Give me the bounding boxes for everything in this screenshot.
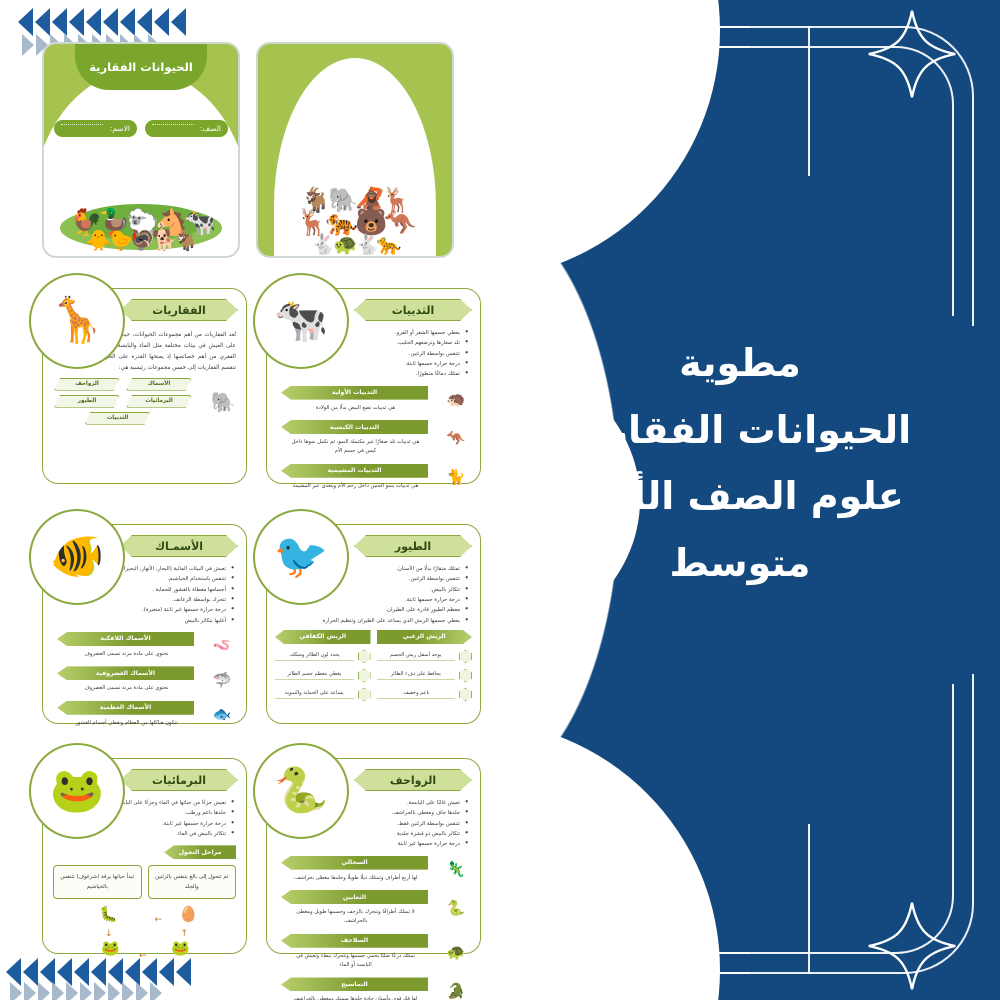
subtype-desc: لها أربع أطراف وتمتلك ذيلًا طويلًا وجلده… <box>275 872 436 886</box>
chip-birds[interactable]: الطيور <box>54 395 120 408</box>
feather-types: الريش الزغبي يوجد أسفل ريش الجسم يحافظ ع… <box>267 628 480 707</box>
hexagon-icon <box>459 669 472 682</box>
adult-frog-icon: 🐸 <box>171 939 190 957</box>
arrow-decoration-bottom-light <box>10 982 162 1000</box>
chip-fish[interactable]: الأسماك <box>126 378 192 391</box>
poster-title: مطوية الحيوانات الفقارية علوم الصف الأول… <box>540 330 940 596</box>
hexagon-icon <box>358 650 371 663</box>
subtype-desc: تتكون هياكلها من العظام وتغطي أجسام القش… <box>51 717 202 731</box>
card-heading-amphibians: البرمائيات <box>120 769 238 791</box>
feather-type-contour: الريش الكفافي يحدد لون الطائر وشكله. يغط… <box>275 630 371 701</box>
star-icon-bottom <box>866 900 958 992</box>
metamorphosis-stage-adult: ثم تتحول إلى بالغ يتنفس بالرئتين والجلد <box>148 865 237 899</box>
card-reptiles[interactable]: 🐍 الزواحف تعيش غالبًا على اليابسة. جلدها… <box>266 758 481 954</box>
chip-mammals[interactable]: الثدييات <box>85 412 151 425</box>
cover-fields: الصف: الاسم: <box>54 120 228 137</box>
card-heading-fish: الأسمـاك <box>120 535 238 557</box>
title-line-3: علوم الصف الأول <box>540 463 940 530</box>
subtype-desc: تحتوي على مادة مرنة تسمى الغضروف <box>51 648 202 662</box>
title-line-1: مطوية <box>540 330 940 397</box>
card-amphibians[interactable]: 🐸 البرمائيات تعيش جزءًا من حياتها في الم… <box>42 758 247 954</box>
list-item: يغطي جسمها الريش الذي يساعد على الطيران … <box>275 616 468 626</box>
subtype-title: الثدييات الكيسية <box>281 420 428 434</box>
metamorphosis-title: مراحل التحول <box>164 845 236 859</box>
shark-photo-icon: 🦈 <box>206 671 238 689</box>
list-item: درجة حرارة جسمها غير ثابتة <box>275 839 468 849</box>
wild-animals-illustration: 🦌🦧🐘🐐 🦘🐻🐅🦌 🐆🐇🐢🐇 <box>258 116 452 256</box>
subtype-title: الثدييات الأولية <box>281 386 428 400</box>
subtype-desc: لا تمتلك أطرافًا وتتحرك بالزحف وجسمها طو… <box>275 906 436 930</box>
feather-point: يساعد على الحماية والتمويه <box>275 688 371 701</box>
subtype-desc: تحتوي على مادة مرنة تسمى الغضروف <box>51 682 202 696</box>
subtype-title: الأسماك الغضروفية <box>57 666 194 680</box>
hexagon-icon <box>358 669 371 682</box>
feather-type-down: الريش الزغبي يوجد أسفل ريش الجسم يحافظ ع… <box>377 630 473 701</box>
class-field-label: الصف: <box>200 124 221 133</box>
cycle-arrow-left: ← <box>154 915 162 925</box>
cover-card-back[interactable]: 🦌🦧🐘🐐 🦘🐻🐅🦌 🐆🐇🐢🐇 <box>256 42 454 258</box>
feather-point: يحافظ على دفء الطائر <box>377 669 473 682</box>
blue-bird-photo-icon: 🐦 <box>253 509 349 605</box>
metamorphosis-stages: ثم تتحول إلى بالغ يتنفس بالرئتين والجلد … <box>43 861 246 901</box>
feather-title: الريش الزغبي <box>377 630 473 644</box>
frog-eggs-icon: 🥚 <box>179 905 198 923</box>
card-vertebrates[interactable]: 🦒 الفقاريات تُعد الفقاريات من أهم مجموعا… <box>42 288 247 484</box>
decor-dot <box>548 748 551 751</box>
arrow-decoration-top <box>18 8 186 36</box>
chip-amphibians[interactable]: البرمائيات <box>126 395 192 408</box>
subtype-title: الأسماك اللافكية <box>57 632 194 646</box>
crocodile-photo-icon: 🐊 <box>440 982 472 1000</box>
subtype-title: التماسيح <box>281 977 428 991</box>
name-field[interactable]: الاسم: <box>54 120 137 137</box>
cycle-arrow-down: ↓ <box>105 929 113 939</box>
hexagon-icon <box>358 688 371 701</box>
subtype-title: الأسماك العظمية <box>57 701 194 715</box>
subtype-desc: تمتلك درعًا صلبًا يحمي جسمها وتتحرك ببطء… <box>275 950 436 974</box>
frog-life-cycle-diagram: 🥚 ← 🐛 ↓ 🐸 ← 🐸 ↑ <box>43 903 246 971</box>
feather-title: الريش الكفافي <box>275 630 371 644</box>
kangaroo-photo-icon: 🦘 <box>440 429 472 447</box>
feather-point: يوجد أسفل ريش الجسم <box>377 650 473 663</box>
fish-subtype-cartilaginous: 🦈 الأسماك الغضروفية تحتوي على مادة مرنة … <box>43 662 246 696</box>
frame-line-vertical-top <box>808 26 810 176</box>
frame-line-vertical-bottom <box>808 824 810 974</box>
frame-line-bottom-a <box>590 972 750 974</box>
list-item: أغلبها يتكاثر بالبيض <box>51 616 234 626</box>
animals-group-photo-icon: 🐘 <box>200 376 246 429</box>
list-item: تمتلك دماغًا متطورًا. <box>275 369 468 379</box>
cover-card-front[interactable]: الحيوانات الفقارية الصف: الاسم: 🐄🐴🐑🦆🐓 🐐🐕… <box>42 42 240 258</box>
subtype-title: الثعابين <box>281 890 428 904</box>
name-field-label: الاسم: <box>110 124 130 133</box>
reptile-subtype-snakes: 🐍 الثعابين لا تمتلك أطرافًا وتتحرك بالزح… <box>267 886 480 930</box>
cycle-arrow-up: ↑ <box>180 929 188 939</box>
hexagon-icon <box>459 688 472 701</box>
reptile-subtype-turtles: 🐢 السلاحف تمتلك درعًا صلبًا يحمي جسمها و… <box>267 930 480 974</box>
mammal-subtype-monotremes: 🦔 الثدييات الأولية هي ثدييات تضع البيض ب… <box>267 382 480 416</box>
snake-photo-icon: 🐍 <box>253 743 349 839</box>
card-heading-birds: الطيور <box>354 535 472 557</box>
subtype-desc: هي ثدييات تلد صغارًا غير مكتملة النمو، ث… <box>275 436 436 460</box>
decor-dot <box>512 300 515 303</box>
frame-line-bottom-b <box>620 952 750 954</box>
cover-title: الحيوانات الفقارية <box>75 44 207 90</box>
jungle-animals-photo-icon: 🦒 <box>29 273 125 369</box>
cycle-arrow-right: ← <box>139 951 147 961</box>
subtype-title: السلاحف <box>281 934 428 948</box>
star-icon-top <box>866 8 958 100</box>
list-item: معظم الطيور قادرة على الطيران. <box>275 605 468 615</box>
chip-reptiles[interactable]: الزواحف <box>54 378 120 391</box>
subtype-title: السحالي <box>281 856 428 870</box>
hexagon-icon <box>459 650 472 663</box>
reptile-subtype-crocodiles: 🐊 التماسيح لها فك قوي وأسنان حادة جلدها … <box>267 973 480 1000</box>
mammal-subtype-marsupials: 🦘 الثدييات الكيسية هي ثدييات تلد صغارًا … <box>267 416 480 460</box>
subtype-desc: لها فك قوي وأسنان حادة جلدها سميك ومغطى … <box>275 993 436 1000</box>
mammal-subtype-placentals: 🐈 الثدييات المشيمية هي ثدييات ينمو الجني… <box>267 460 480 494</box>
tadpole-icon: 🐛 <box>99 905 118 923</box>
card-mammals[interactable]: 🐄 الثدييات يغطي جسمها الشعر أو الفرو. تل… <box>266 288 481 484</box>
cow-photo-icon: 🐄 <box>253 273 349 369</box>
frog-photo-icon: 🐸 <box>29 743 125 839</box>
bony-fish-photo-icon: 🐟 <box>206 705 238 723</box>
reptile-subtype-lizards: 🦎 السحالي لها أربع أطراف وتمتلك ذيلًا طو… <box>267 852 480 886</box>
turtle-photo-icon: 🐢 <box>440 943 472 961</box>
card-birds[interactable]: 🐦 الطيور تمتلك منقارًا بدلًا من الأسنان.… <box>266 524 481 724</box>
blue-title-panel: مطوية الحيوانات الفقارية علوم الصف الأول… <box>470 0 1000 1000</box>
farm-animals-illustration: 🐄🐴🐑🦆🐓 🐐🐕🦃🐤🐥 <box>44 148 238 256</box>
class-field[interactable]: الصف: <box>145 120 228 137</box>
card-fish[interactable]: 🐠 الأسمـاك تعيش في البيئات المائية (البح… <box>42 524 247 724</box>
title-line-2: الحيوانات الفقارية <box>540 397 940 464</box>
card-heading-vertebrates: الفقاريات <box>120 299 238 321</box>
title-line-4: متوسط <box>540 530 940 597</box>
frame-line-top-b <box>620 46 750 48</box>
metamorphosis-stage-larva: تبدأ حياتها يرقة (شرغوف) تتنفس بالخياشيم <box>53 865 142 899</box>
cat-photo-icon: 🐈 <box>440 468 472 486</box>
subtype-desc: هي ثدييات تضع البيض بدلًا من الولادة <box>275 402 436 416</box>
card-heading-reptiles: الزواحف <box>354 769 472 791</box>
goldfish-photo-icon: 🐠 <box>29 509 125 605</box>
echidna-photo-icon: 🦔 <box>440 390 472 408</box>
feather-point: ناعم وخفيف. <box>377 688 473 701</box>
subtype-desc: هي ثدييات ينمو الجنين داخل رحم الأم ويتغ… <box>275 480 436 494</box>
snake-coiled-photo-icon: 🐍 <box>440 899 472 917</box>
fish-subtype-jawless: 🪱 الأسماك اللافكية تحتوي على مادة مرنة ت… <box>43 628 246 662</box>
feather-point: يحدد لون الطائر وشكله. <box>275 650 371 663</box>
card-heading-mammals: الثدييات <box>354 299 472 321</box>
froglet-icon: 🐸 <box>101 939 120 957</box>
feather-point: يغطي معظم جسم الطائر <box>275 669 371 682</box>
list-item: درجة حرارة جسمها غير ثابتة (متغيرة). <box>51 605 234 615</box>
fish-subtype-bony: 🐟 الأسماك العظمية تتكون هياكلها من العظا… <box>43 697 246 731</box>
decor-dot <box>520 706 523 709</box>
frame-line-top-a <box>590 26 750 28</box>
lamprey-photo-icon: 🪱 <box>206 636 238 654</box>
lizard-photo-icon: 🦎 <box>440 860 472 878</box>
subtype-title: الثدييات المشيمية <box>281 464 428 478</box>
